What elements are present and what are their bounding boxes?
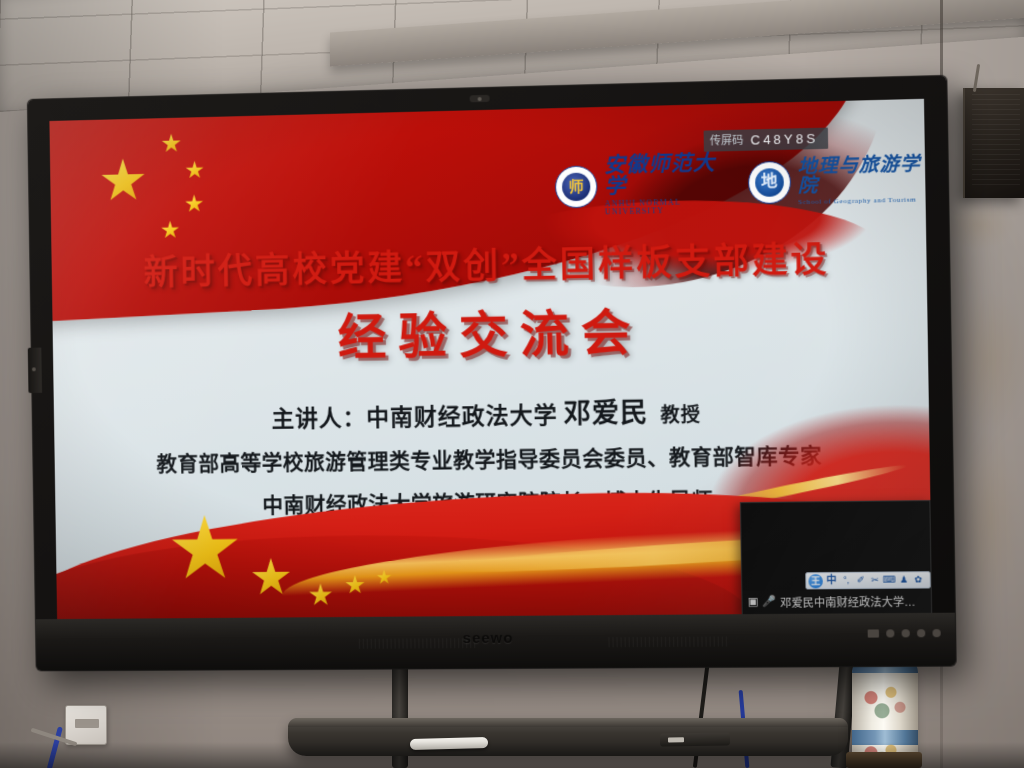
cast-code-label: 传屏码 [710,132,744,149]
ime-toolbox-icon[interactable]: ✂ [869,573,882,587]
floor-shadow [0,742,1024,768]
seal-glyph: 地 [761,174,778,191]
logo-text-block: 安徽师范大学 ANHUI NORMAL UNIVERSITY [604,152,728,216]
logo-anhui-normal-university: 师 安徽师范大学 ANHUI NORMAL UNIVERSITY [555,152,728,217]
wall-stain [950,290,1024,430]
wall-stain [945,200,1015,250]
panel-display[interactable]: 师 安徽师范大学 ANHUI NORMAL UNIVERSITY 地 [49,99,932,619]
ime-keyboard-icon[interactable]: ⌨ [883,573,896,587]
logo-school-of-geography-and-tourism: 地 地理与旅游学院 School of Geography and Touris… [748,154,926,207]
logo-name-cn: 地理与旅游学院 [797,154,925,195]
interactive-flat-panel[interactable]: 师 安徽师范大学 ANHUI NORMAL UNIVERSITY 地 [28,76,956,671]
screen-share-icon: ▣ [748,597,759,608]
speaker-grill [972,94,1020,186]
presentation-slide: 师 安徽师范大学 ANHUI NORMAL UNIVERSITY 地 [49,99,932,619]
wall-stain [958,430,1022,610]
participant-name-bar: ▣ 🎤 邓爱民中南财经政法大学… [742,589,931,614]
participant-name: 邓爱民中南财经政法大学… [780,593,916,610]
port-icon[interactable] [902,629,910,637]
speaker-prefix: 主讲人：中南财经政法大学 [271,402,558,432]
logo-name-en: School of Geography and Tourism [798,196,925,206]
logo-text-block: 地理与旅游学院 School of Geography and Tourism [797,154,925,206]
room-scene: 师 安徽师范大学 ANHUI NORMAL UNIVERSITY 地 [0,0,1024,768]
wall-speaker [963,88,1024,198]
vase-motif [860,680,910,724]
seal-glyph: 师 [569,179,584,194]
logo-name-en: ANHUI NORMAL UNIVERSITY [605,198,728,217]
panel-brand-logo: seewo [463,630,514,647]
side-io-module[interactable] [28,348,42,393]
ime-language-mode-button[interactable]: 中 [825,573,839,587]
wall-outlet [65,705,107,745]
power-button-icon[interactable] [932,629,940,637]
outlet-slot [75,719,99,728]
ime-settings-icon[interactable]: ✿ [912,573,925,587]
cast-code-badge: 传屏码 C48Y8S [704,128,829,152]
ime-logo-icon[interactable]: 王 [808,574,823,588]
panel-io-ports[interactable] [868,629,941,638]
ime-handwriting-icon[interactable]: ✐ [854,573,867,587]
usb-port-icon[interactable] [868,629,879,637]
ime-floating-toolbar[interactable]: 王 中 °, ✐ ✂ ⌨ ♟ ✿ [805,571,930,589]
shelf-lip [288,718,848,727]
cast-code-value: C48Y8S [750,130,818,147]
port-icon[interactable] [886,629,894,637]
panel-bottom-bar: seewo [36,613,956,671]
school-seal-icon: 地 [748,160,791,203]
panel-speaker-left [359,638,478,649]
institution-logos: 师 安徽师范大学 ANHUI NORMAL UNIVERSITY 地 [555,148,926,218]
ime-skin-icon[interactable]: ♟ [898,573,911,587]
logo-name-cn: 安徽师范大学 [604,152,728,197]
port-icon[interactable] [917,629,925,637]
panel-camera [470,95,490,103]
panel-speaker-right [608,636,730,647]
ime-punctuation-button[interactable]: °, [840,573,853,587]
university-seal-icon: 师 [555,165,598,208]
speaker-name: 邓爱民 [563,398,648,429]
video-conference-panel[interactable]: 王 中 °, ✐ ✂ ⌨ ♟ ✿ ▣ 🎤 邓爱民中南财经政法大学… [740,500,932,615]
microphone-icon: 🎤 [762,597,776,608]
